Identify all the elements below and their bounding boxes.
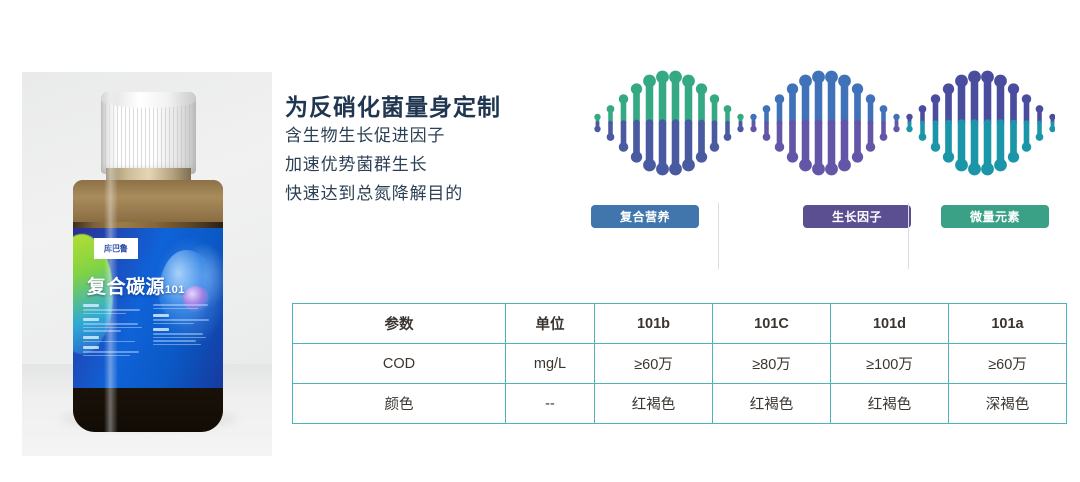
feature-badge-label: 复合营养: [620, 208, 670, 225]
product-bottle-photo: 库巴鲁 复合碳源101: [22, 72, 272, 456]
label-title-text: 复合碳源: [87, 277, 165, 298]
table-header-cell: 101C: [713, 304, 831, 344]
badge-divider-1: [718, 203, 719, 269]
spec-table: 参数单位101b101C101d101aCODmg/L≥60万≥80万≥100万…: [292, 303, 1067, 424]
badge-divider-2: [908, 203, 909, 269]
bottle-label: 库巴鲁 复合碳源101: [73, 228, 223, 388]
label-fineprint: [83, 304, 215, 384]
brand-logo-box: 库巴鲁: [94, 238, 138, 259]
table-cell: 红褐色: [831, 384, 949, 424]
feature-badge-2[interactable]: 生长因子: [803, 205, 911, 228]
table-cell: 红褐色: [595, 384, 713, 424]
label-product-title: 复合碳源101: [87, 272, 185, 299]
table-row: CODmg/L≥60万≥80万≥100万≥60万: [293, 344, 1067, 384]
description-line-1: 含生物生长促进因子: [285, 121, 463, 150]
bottle: 库巴鲁 复合碳源101: [66, 92, 230, 432]
description-line-2: 加速优势菌群生长: [285, 150, 463, 179]
page-title: 为反硝化菌量身定制: [285, 88, 501, 122]
table-cell: --: [506, 384, 595, 424]
feature-badge-1[interactable]: 复合营养: [591, 205, 699, 228]
brand-logo-text: 库巴鲁: [104, 243, 127, 255]
fineprint-column-left: [83, 304, 145, 384]
table-header-cell: 101b: [595, 304, 713, 344]
feature-badge-label: 微量元素: [970, 208, 1020, 225]
feature-badge-label: 生长因子: [832, 208, 882, 225]
table-row: 颜色--红褐色红褐色红褐色深褐色: [293, 384, 1067, 424]
spec-table-body: 参数单位101b101C101d101aCODmg/L≥60万≥80万≥100万…: [293, 304, 1067, 424]
table-header-cell: 101d: [831, 304, 949, 344]
dna-helix-graphic: [585, 62, 1055, 184]
table-cell: COD: [293, 344, 506, 384]
description-line-3: 快速达到总氮降解目的: [285, 179, 463, 208]
table-cell: mg/L: [506, 344, 595, 384]
description-text: 含生物生长促进因子 加速优势菌群生长 快速达到总氮降解目的: [285, 121, 463, 208]
liquid-foam: [73, 180, 223, 222]
table-cell: ≥80万: [713, 344, 831, 384]
label-model-text: 101: [165, 284, 185, 296]
bottle-body: 库巴鲁 复合碳源101: [73, 180, 223, 432]
bottle-cap-top: [101, 92, 196, 108]
table-header-cell: 101a: [949, 304, 1067, 344]
feature-badge-3[interactable]: 微量元素: [941, 205, 1049, 228]
fineprint-column-right: [153, 304, 215, 384]
table-cell: 红褐色: [713, 384, 831, 424]
table-cell: ≥100万: [831, 344, 949, 384]
table-header-row: 参数单位101b101C101d101a: [293, 304, 1067, 344]
table-cell: ≥60万: [949, 344, 1067, 384]
table-cell: 深褐色: [949, 384, 1067, 424]
feature-badge-row: 复合营养生长因子微量元素: [585, 203, 1060, 269]
table-cell: 颜色: [293, 384, 506, 424]
table-header-cell: 单位: [506, 304, 595, 344]
table-header-cell: 参数: [293, 304, 506, 344]
table-cell: ≥60万: [595, 344, 713, 384]
